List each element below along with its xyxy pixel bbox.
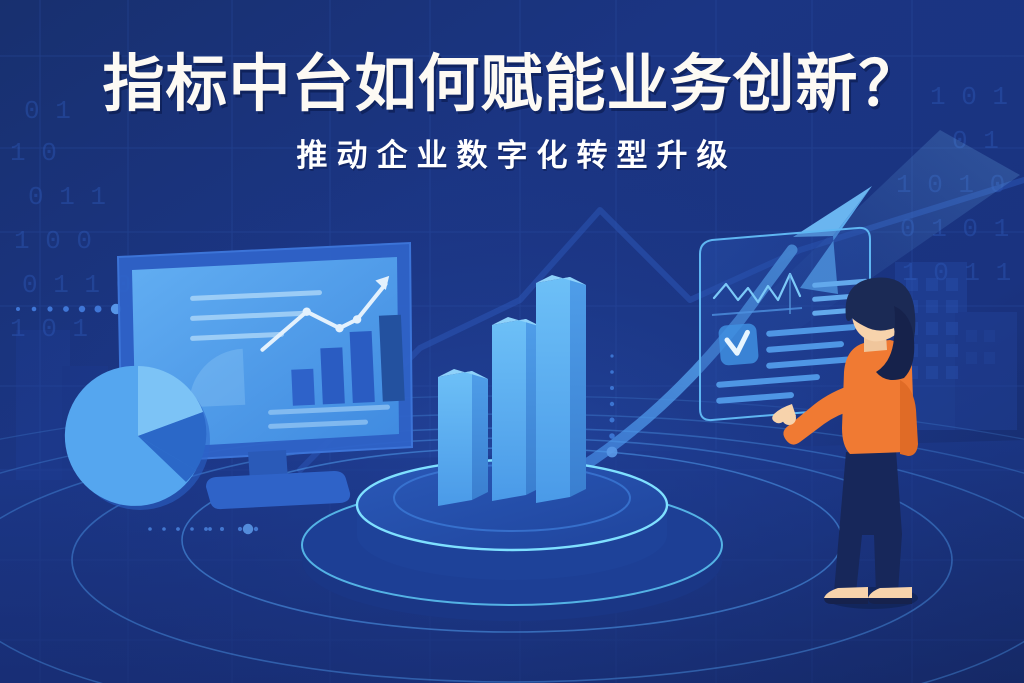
svg-text:1 0: 1 0 bbox=[10, 138, 57, 168]
podium-bar-3 bbox=[536, 275, 586, 503]
svg-text:1 0 1 1: 1 0 1 1 bbox=[930, 82, 1024, 112]
podium-bar-2 bbox=[492, 317, 542, 501]
svg-text:0 1 1 0: 0 1 1 0 bbox=[22, 270, 131, 300]
background-layer: 0 1 1 0 0 1 1 1 0 0 0 1 1 0 1 0 1 1 0 1 … bbox=[0, 0, 1024, 683]
podium-bar-1 bbox=[438, 369, 488, 506]
svg-text:1 0 1: 1 0 1 bbox=[10, 314, 88, 344]
svg-text:0 1 1: 0 1 1 bbox=[28, 182, 106, 212]
monitor-base bbox=[206, 471, 350, 509]
poster-root: 0 1 1 0 0 1 1 1 0 0 0 1 1 0 1 0 1 1 0 1 … bbox=[0, 0, 1024, 683]
svg-text:1 0 1 1: 1 0 1 1 bbox=[902, 258, 1011, 288]
approval-check-tile[interactable] bbox=[718, 323, 759, 366]
panel-text-lines-mid bbox=[766, 324, 856, 369]
svg-text:0 1: 0 1 bbox=[24, 96, 71, 126]
svg-text:1 0 0: 1 0 0 bbox=[14, 226, 92, 256]
